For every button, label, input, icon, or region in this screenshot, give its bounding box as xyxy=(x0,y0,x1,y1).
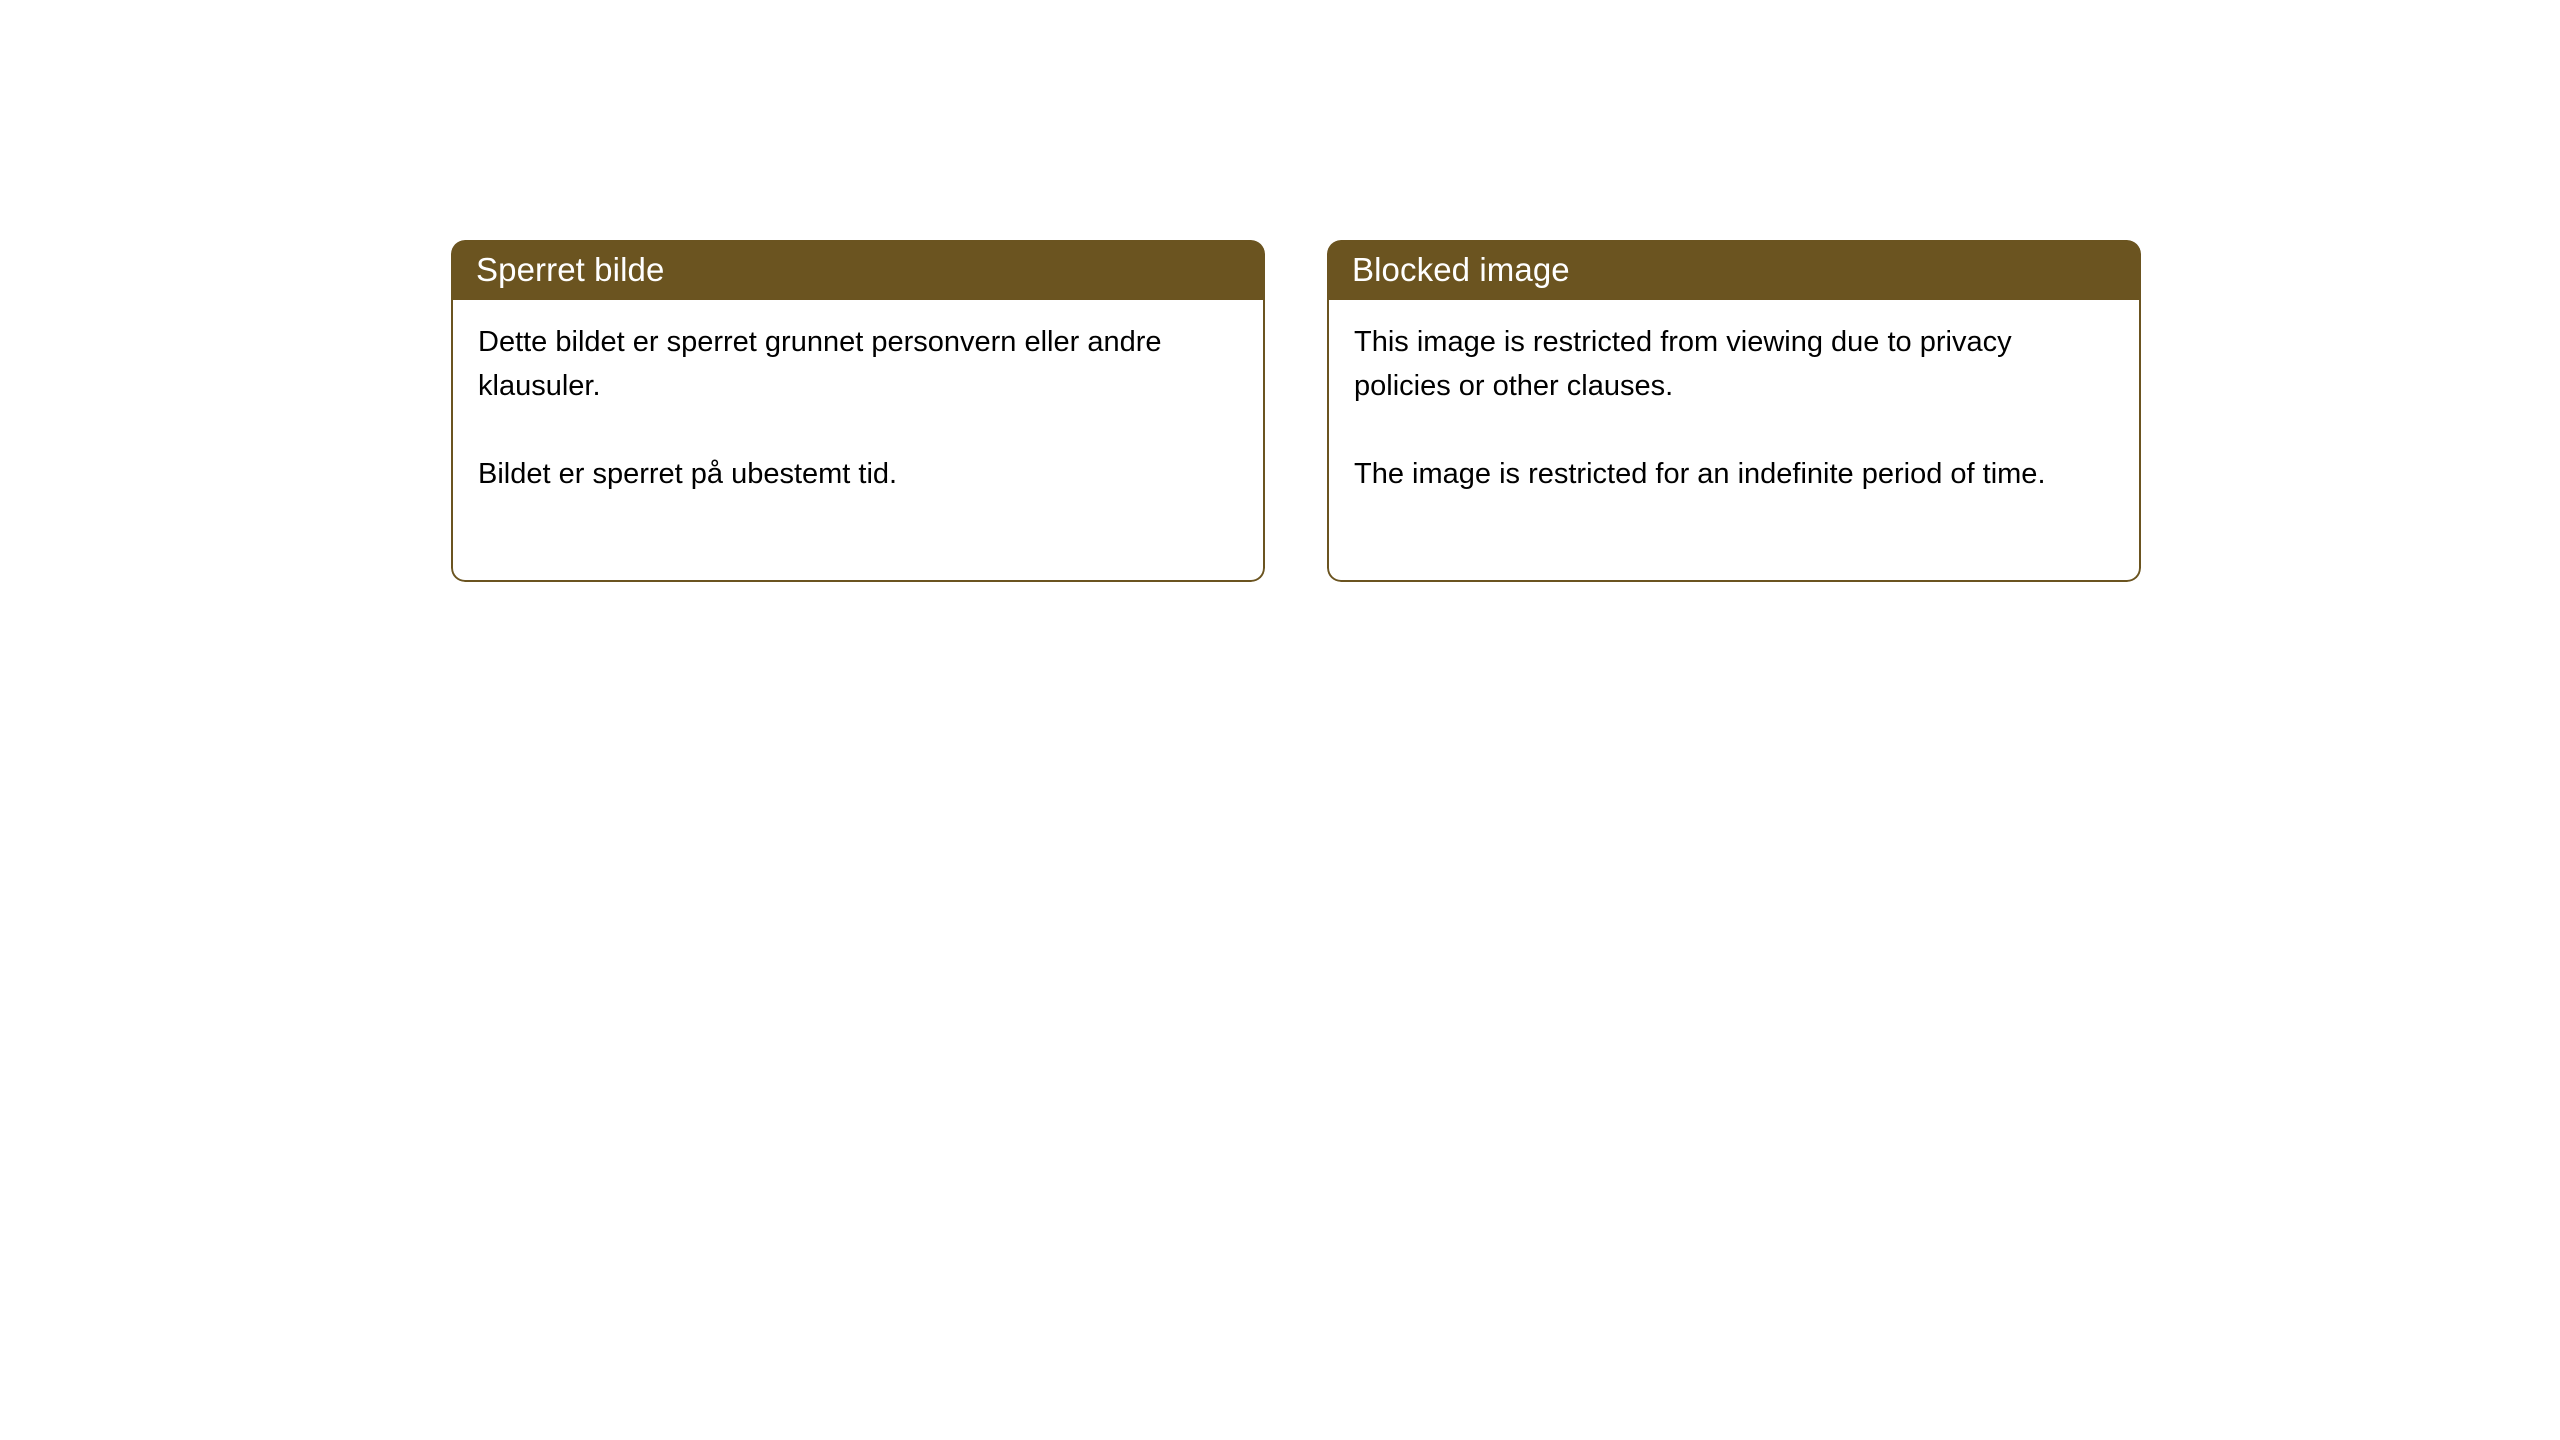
panel-paragraph-reason-norwegian: Dette bildet er sperret grunnet personve… xyxy=(478,320,1238,408)
panel-header-english: Blocked image xyxy=(1327,240,2141,300)
panel-header-norwegian: Sperret bilde xyxy=(451,240,1265,300)
panel-paragraph-duration-english: The image is restricted for an indefinit… xyxy=(1354,452,2114,496)
blocked-image-panel-norwegian: Sperret bilde Dette bildet er sperret gr… xyxy=(451,240,1265,582)
blocked-image-notice-group: Sperret bilde Dette bildet er sperret gr… xyxy=(451,240,2141,582)
panel-body-norwegian: Dette bildet er sperret grunnet personve… xyxy=(451,300,1265,582)
panel-title-english: Blocked image xyxy=(1352,252,1570,288)
panel-paragraph-duration-norwegian: Bildet er sperret på ubestemt tid. xyxy=(478,452,1238,496)
blocked-image-panel-english: Blocked image This image is restricted f… xyxy=(1327,240,2141,582)
panel-title-norwegian: Sperret bilde xyxy=(476,252,664,288)
panel-body-english: This image is restricted from viewing du… xyxy=(1327,300,2141,582)
panel-paragraph-reason-english: This image is restricted from viewing du… xyxy=(1354,320,2114,408)
